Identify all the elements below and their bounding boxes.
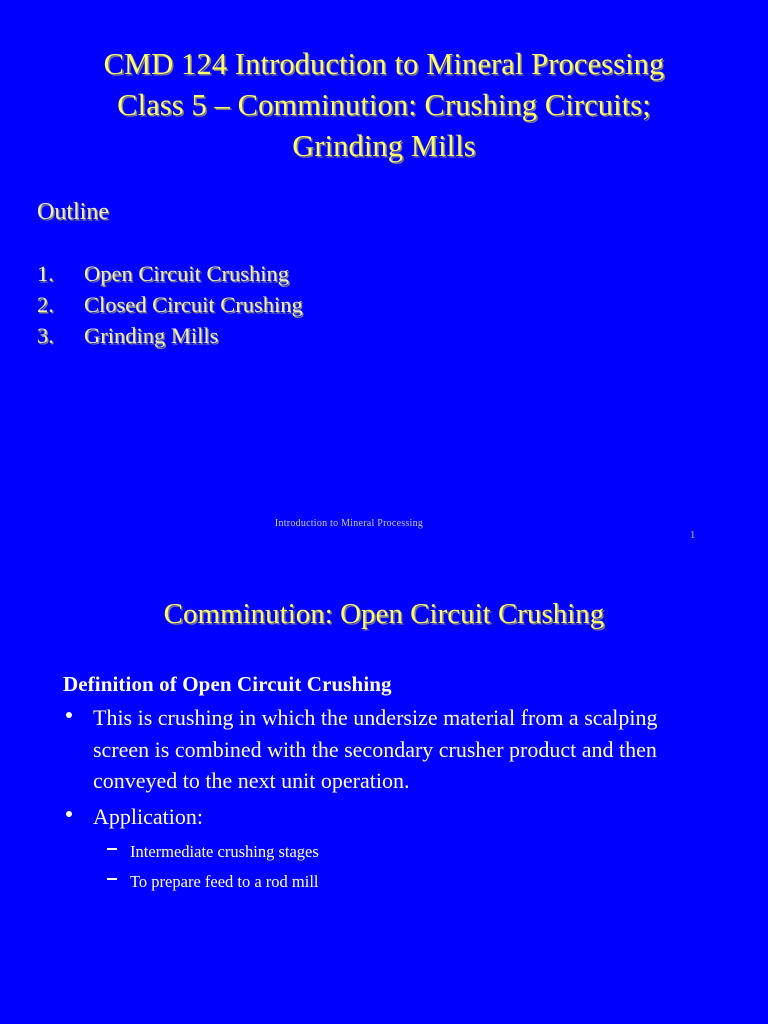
slide-2-body: Definition of Open Circuit Crushing This…	[63, 670, 703, 897]
list-item-label: Open Circuit Crushing	[84, 258, 289, 289]
outline-label: Outline	[37, 197, 109, 227]
outline-list: 1. Open Circuit Crushing 2. Closed Circu…	[37, 258, 637, 351]
page-number: 1	[690, 529, 712, 543]
slide-2-title: Comminution: Open Circuit Crushing	[30, 595, 738, 633]
slide-deck: CMD 124 Introduction to Mineral Processi…	[0, 0, 768, 1024]
definition-heading: Definition of Open Circuit Crushing	[63, 670, 703, 698]
bullet-item: Application:	[63, 801, 703, 833]
slide-1-title-line-2: Class 5 – Comminution: Crushing Circuits…	[40, 85, 728, 126]
list-item: 3. Grinding Mills	[37, 320, 637, 351]
slide-1-title-line-1: CMD 124 Introduction to Mineral Processi…	[40, 44, 728, 85]
bullet-text: Application:	[93, 804, 203, 829]
list-item: 1. Open Circuit Crushing	[37, 258, 637, 289]
sub-bullet-item: Intermediate crushing stages	[107, 837, 703, 867]
slide-1: CMD 124 Introduction to Mineral Processi…	[0, 0, 768, 560]
bullet-item: This is crushing in which the undersize …	[63, 702, 703, 797]
dash-icon	[107, 848, 117, 850]
list-item-number: 2.	[37, 289, 84, 320]
bullet-dot-icon	[66, 712, 72, 718]
slide-1-title-line-3: Grinding Mills	[40, 126, 728, 167]
slide-2: Comminution: Open Circuit Crushing Defin…	[0, 560, 768, 1024]
bullet-dot-icon	[66, 811, 72, 817]
slide-footer: Introduction to Mineral Processing	[0, 517, 698, 531]
dash-icon	[107, 878, 117, 880]
list-item-label: Closed Circuit Crushing	[84, 289, 303, 320]
list-item: 2. Closed Circuit Crushing	[37, 289, 637, 320]
list-item-number: 3.	[37, 320, 84, 351]
list-item-number: 1.	[37, 258, 84, 289]
sub-bullet-list: Intermediate crushing stages To prepare …	[63, 837, 703, 897]
slide-1-title: CMD 124 Introduction to Mineral Processi…	[40, 44, 728, 167]
bullet-text: This is crushing in which the undersize …	[93, 705, 658, 793]
sub-bullet-text: To prepare feed to a rod mill	[130, 872, 319, 891]
sub-bullet-text: Intermediate crushing stages	[130, 842, 319, 861]
sub-bullet-item: To prepare feed to a rod mill	[107, 867, 703, 897]
list-item-label: Grinding Mills	[84, 320, 218, 351]
